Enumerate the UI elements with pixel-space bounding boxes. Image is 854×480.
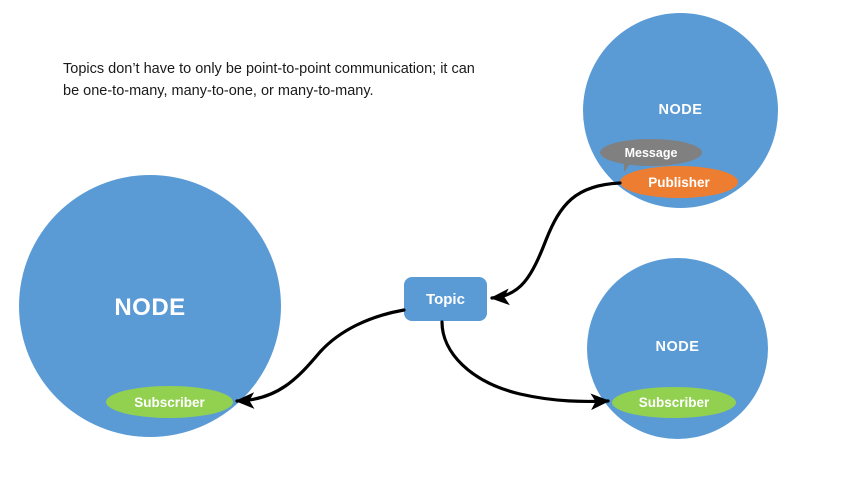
- connector-publisher-to-topic: [492, 183, 620, 298]
- message-bubble[interactable]: Message: [600, 139, 702, 166]
- subscriber-pill-left-label: Subscriber: [134, 395, 205, 410]
- subscriber-pill-bottom-right-label: Subscriber: [639, 395, 710, 410]
- connector-topic-to-bottom-right-subscriber: [442, 322, 608, 401]
- topic-box[interactable]: Topic: [404, 277, 487, 321]
- caption-text: Topics don’t have to only be point-to-po…: [63, 58, 483, 103]
- node-bottom-right-label: NODE: [587, 339, 768, 355]
- node-top-right-label: NODE: [583, 102, 778, 118]
- topic-label: Topic: [426, 291, 465, 308]
- publisher-pill[interactable]: Publisher: [620, 166, 738, 198]
- diagram-canvas: Topics don’t have to only be point-to-po…: [0, 0, 854, 480]
- subscriber-pill-bottom-right[interactable]: Subscriber: [612, 387, 736, 418]
- node-left-label: NODE: [19, 294, 281, 322]
- message-bubble-label: Message: [625, 146, 678, 160]
- subscriber-pill-left[interactable]: Subscriber: [106, 386, 233, 418]
- publisher-pill-label: Publisher: [648, 175, 710, 190]
